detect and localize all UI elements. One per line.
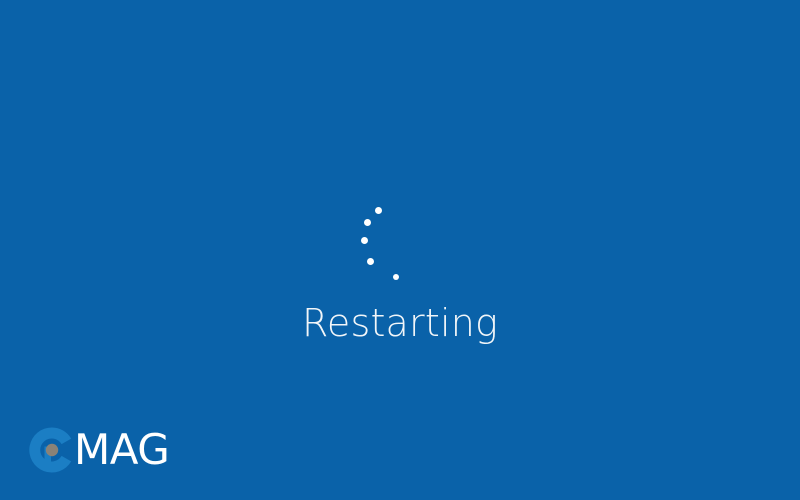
spinner-dot-2 [364, 219, 371, 226]
loading-spinner [340, 190, 420, 290]
watermark-logo: MAG [28, 420, 169, 480]
watermark-wordmark: MAG [74, 429, 169, 471]
spinner-dot-1 [375, 207, 382, 214]
restart-screen: Restarting MAG [0, 0, 800, 500]
status-message: Restarting [0, 300, 800, 346]
cmag-circle-logo-icon [28, 426, 76, 474]
spinner-dot-4 [367, 258, 374, 265]
spinner-dot-3 [361, 237, 368, 244]
spinner-dot-5 [393, 274, 399, 280]
